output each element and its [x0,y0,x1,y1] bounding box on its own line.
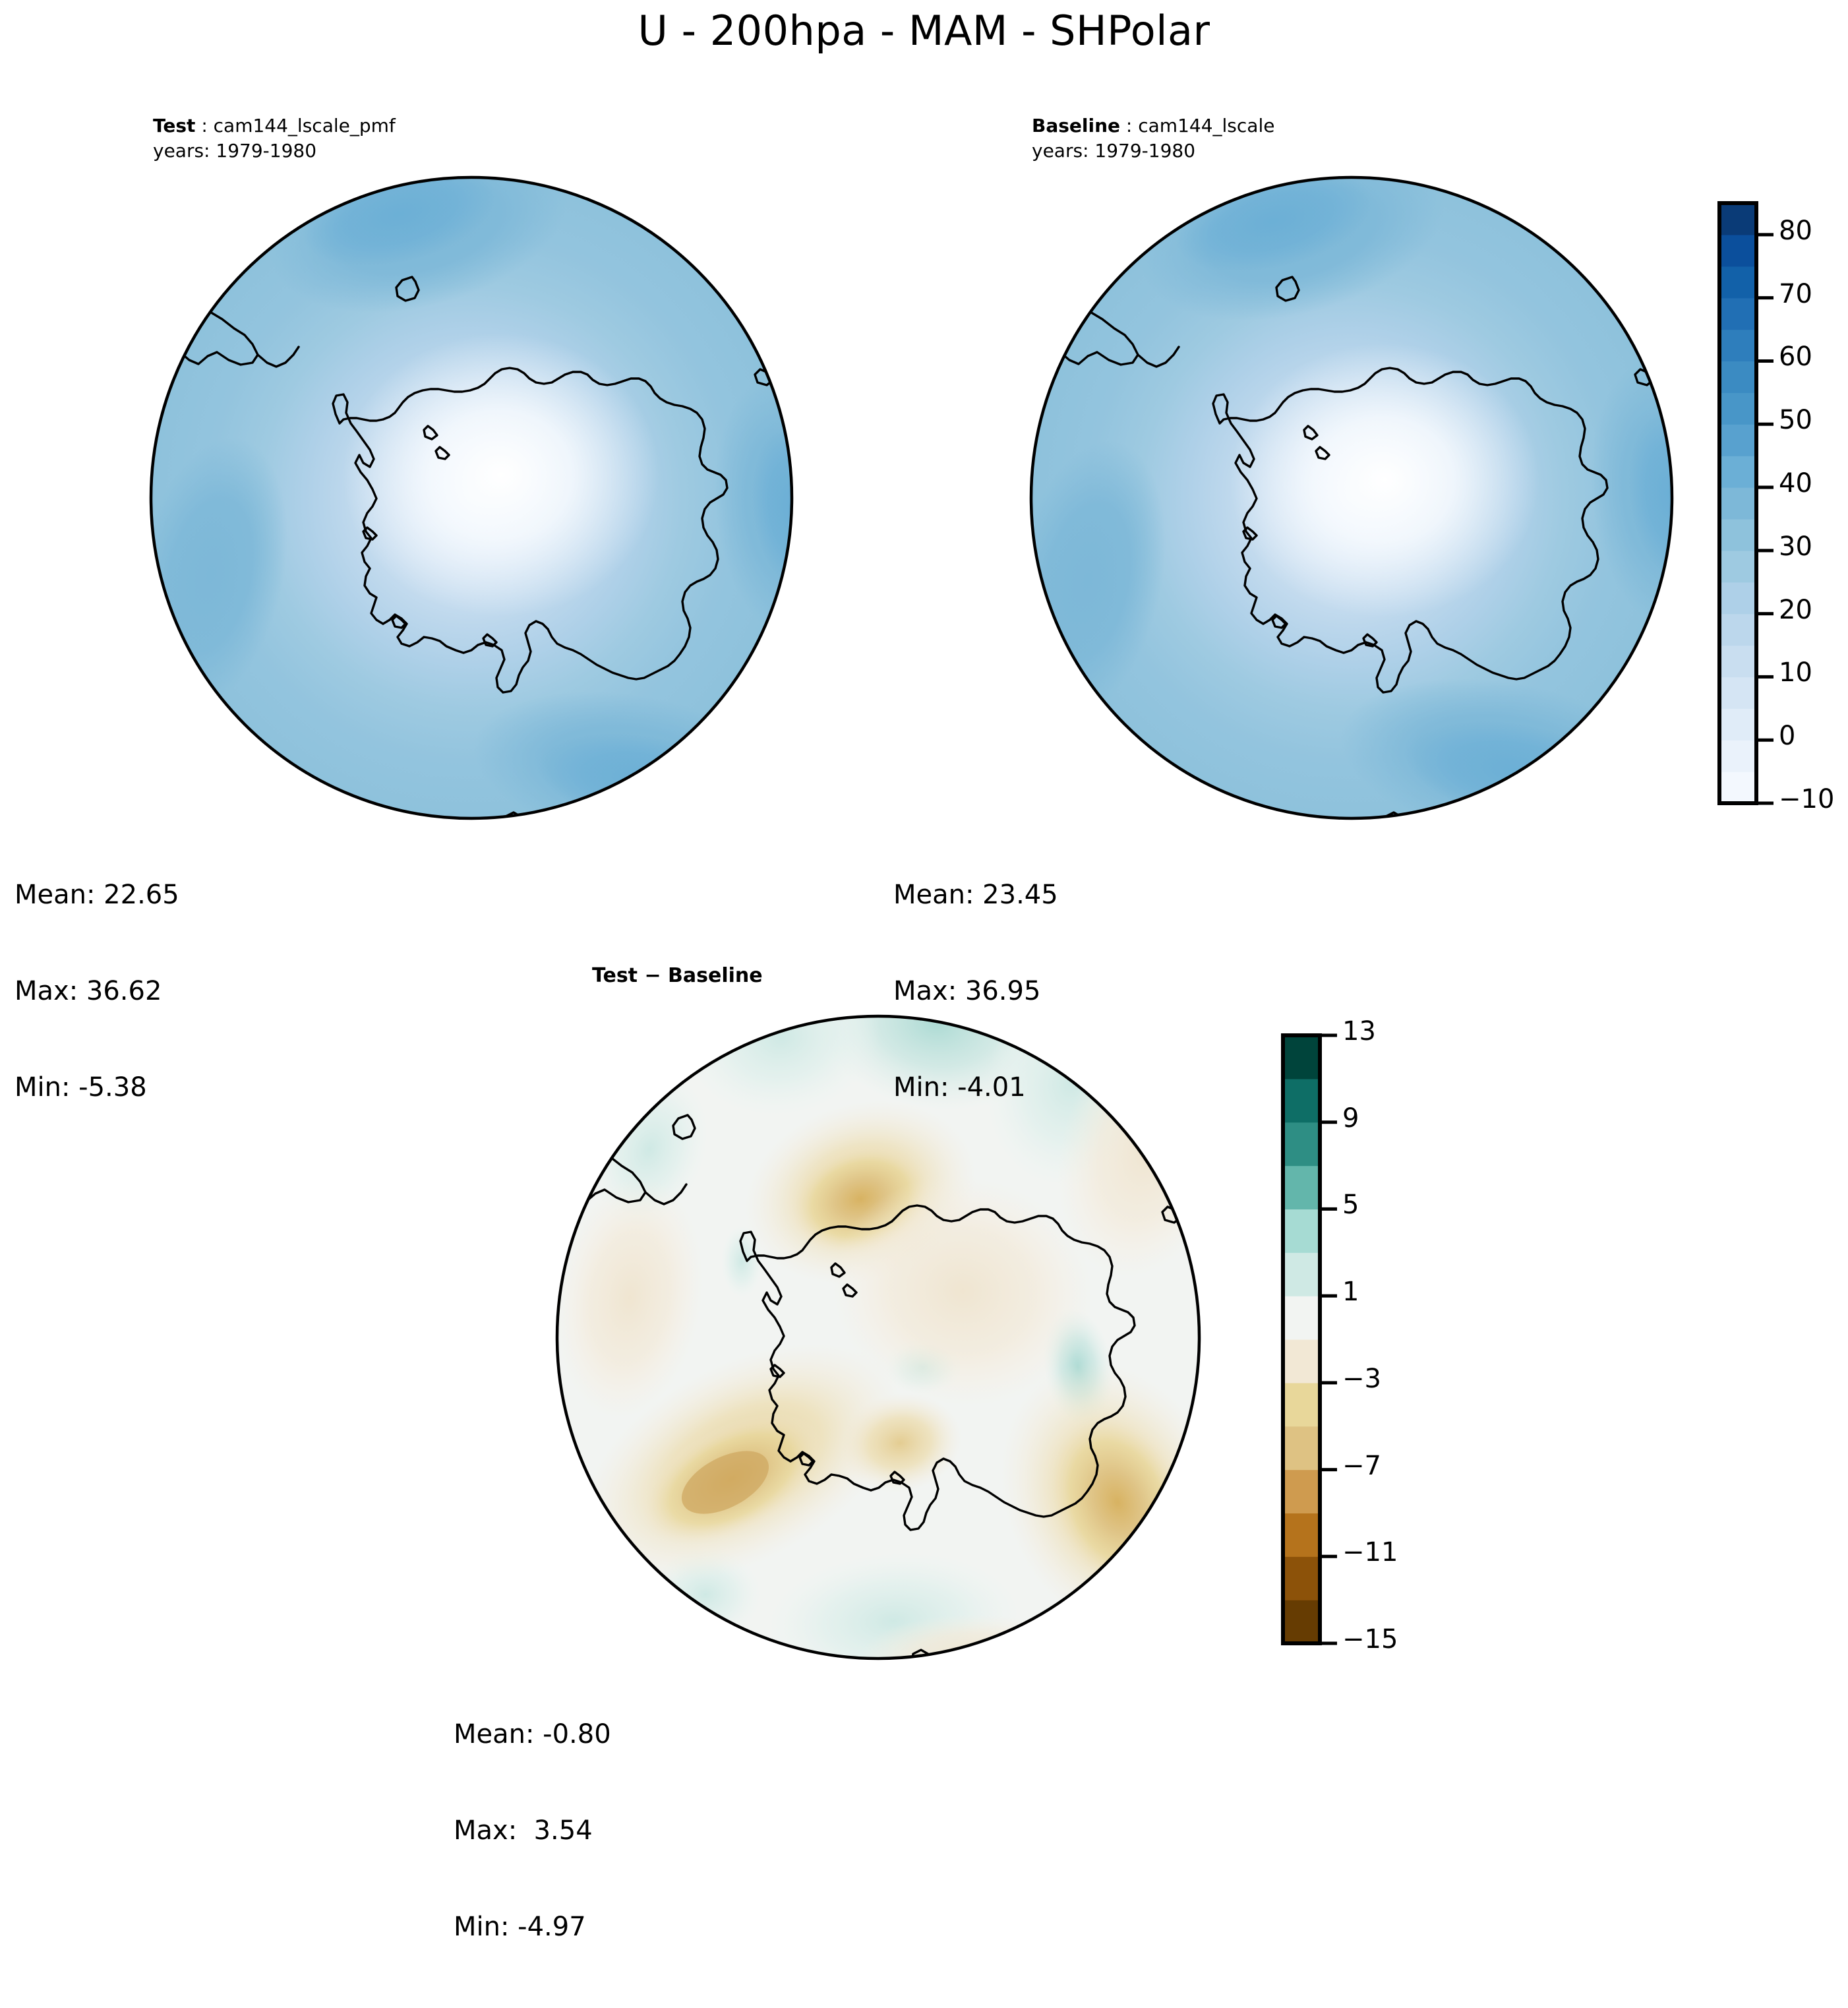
colorbar-band [1283,1470,1320,1513]
colorbar-band [1283,1556,1320,1600]
baseline-case-name: cam144_lscale [1138,115,1274,137]
colorbar-blues[interactable]: −1001020304050607080 [1717,198,1848,818]
colorbar-brbg[interactable]: −15−11−7−315913 [1280,1030,1432,1657]
map-difference [551,1008,1230,1674]
difference-panel-title: Test − Baseline [592,964,763,987]
difference-stat-min: Min: -4.97 [454,1911,611,1943]
colorbar-band [1283,1252,1320,1296]
colorbar-tick-label: 5 [1342,1192,1359,1218]
colorbar-tick-label: −15 [1342,1626,1398,1653]
colorbar-band [1719,551,1756,582]
colorbar-band [1283,1383,1320,1426]
colorbar-band [1283,1513,1320,1556]
colorbar-tick-label: −3 [1342,1366,1381,1392]
colorbar-tick-label: 1 [1342,1279,1359,1305]
colorbar-band [1719,424,1756,456]
baseline-years: years: 1979-1980 [1032,138,1274,164]
colorbar-band [1283,1426,1320,1470]
colorbar-band [1719,740,1756,772]
colorbar-brbg-ticks [1320,1035,1337,1643]
colorbar-band [1719,456,1756,487]
colorbar-tick-label: 10 [1779,659,1812,686]
colorbar-tick-label: 9 [1342,1105,1359,1132]
difference-stat-max: Max: 3.54 [454,1815,611,1847]
colorbar-band [1283,1339,1320,1383]
colorbar-band [1283,1209,1320,1252]
test-separator: : [195,115,213,137]
test-stat-min: Min: -5.38 [15,1072,179,1104]
baseline-stat-max: Max: 36.95 [893,975,1058,1008]
colorbar-band [1719,361,1756,392]
baseline-panel-header: Baseline : cam144_lscale years: 1979-198… [1032,113,1274,164]
colorbar-tick-label: 80 [1779,218,1812,244]
test-panel-header: Test : cam144_lscale_pmf years: 1979-198… [153,113,396,164]
colorbar-band [1719,330,1756,361]
test-contour-field [111,114,868,875]
colorbar-band [1283,1296,1320,1339]
colorbar-band [1719,519,1756,551]
difference-stats: Mean: -0.80 Max: 3.54 Min: -4.97 [454,1654,611,2008]
colorbar-tick-label: −7 [1342,1453,1381,1479]
colorbar-band [1719,487,1756,519]
map-baseline [1015,165,1708,831]
page-title: U - 200hpa - MAM - SHPolar [0,7,1848,55]
colorbar-tick-label: 20 [1779,597,1812,623]
baseline-separator: : [1120,115,1138,137]
colorbar-band [1719,614,1756,646]
colorbar-band [1283,1122,1320,1166]
test-stat-max: Max: 36.62 [15,975,179,1008]
colorbar-band [1283,1600,1320,1643]
colorbar-band [1719,235,1756,266]
colorbar-tick-label: −10 [1779,786,1834,812]
colorbar-brbg-bands [1283,1035,1320,1644]
map-test [135,165,827,831]
colorbar-blues-ticks [1756,235,1773,803]
colorbar-tick-label: 50 [1779,407,1812,433]
difference-stat-mean: Mean: -0.80 [454,1719,611,1751]
colorbar-band [1719,266,1756,298]
colorbar-band [1719,708,1756,740]
colorbar-tick-label: 60 [1779,344,1812,370]
baseline-stat-min: Min: -4.01 [893,1072,1058,1104]
colorbar-band [1283,1166,1320,1209]
colorbar-band [1283,1035,1320,1079]
colorbar-band [1283,1079,1320,1122]
test-stats: Mean: 22.65 Max: 36.62 Min: -5.38 [15,814,179,1169]
test-role-label: Test [153,115,195,137]
colorbar-band [1719,772,1756,803]
colorbar-band [1719,677,1756,708]
test-case-name: cam144_lscale_pmf [214,115,396,137]
colorbar-band [1719,582,1756,614]
colorbar-band [1719,203,1756,235]
colorbar-tick-label: 40 [1779,470,1812,497]
colorbar-band [1719,646,1756,677]
colorbar-band [1719,298,1756,330]
colorbar-blues-bands [1719,203,1756,804]
baseline-contour-field [986,119,1748,869]
colorbar-tick-label: 0 [1779,723,1795,749]
colorbar-tick-label: 13 [1342,1018,1376,1045]
figure-canvas: U - 200hpa - MAM - SHPolar Test : cam144… [0,0,1848,1759]
baseline-stat-mean: Mean: 23.45 [893,879,1058,911]
baseline-stats: Mean: 23.45 Max: 36.95 Min: -4.01 [893,814,1058,1169]
colorbar-tick-label: 30 [1779,533,1812,560]
test-years: years: 1979-1980 [153,138,396,164]
baseline-role-label: Baseline [1032,115,1120,137]
colorbar-tick-label: 70 [1779,281,1812,307]
colorbar-tick-label: −11 [1342,1539,1398,1566]
test-stat-mean: Mean: 22.65 [15,879,179,911]
colorbar-band [1719,392,1756,424]
